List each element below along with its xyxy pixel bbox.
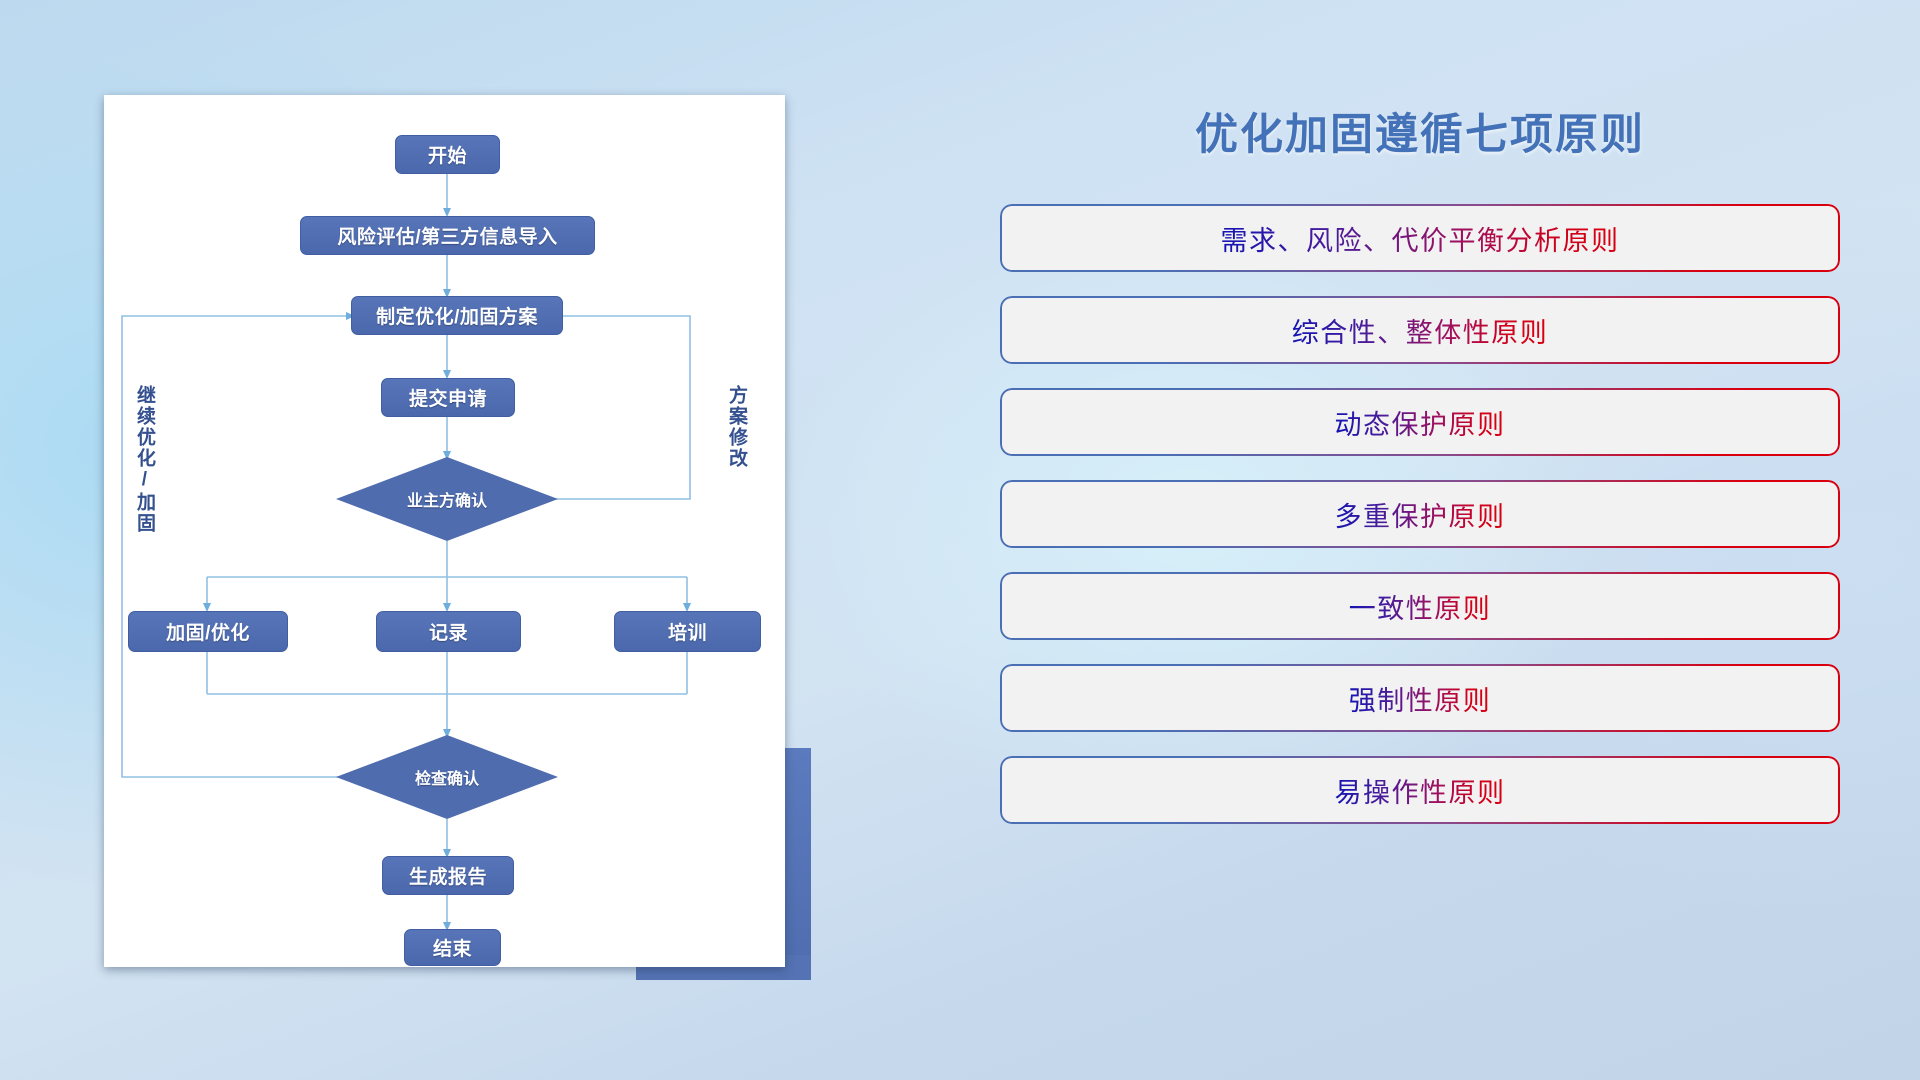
principles-card-list: 需求、风险、代价平衡分析原则 综合性、整体性原则 动态保护原则 多重保护原则 一… <box>1000 204 1840 824</box>
panel-title: 优化加固遵循七项原则 <box>1000 100 1840 162</box>
principle-card[interactable]: 需求、风险、代价平衡分析原则 <box>1000 204 1840 272</box>
flow-node-label: 生成报告 <box>409 862 487 889</box>
principle-card-label: 易操作性原则 <box>1335 771 1506 810</box>
flow-node-label: 业主方确认 <box>407 487 487 511</box>
principle-card[interactable]: 一致性原则 <box>1000 572 1840 640</box>
flow-node-label: 记录 <box>429 618 468 645</box>
flow-node-end[interactable]: 结束 <box>404 929 501 966</box>
flow-node-label: 培训 <box>668 618 707 645</box>
flow-node-label: 加固/优化 <box>166 618 250 645</box>
slide-canvas: 开始 风险评估/第三方信息导入 制定优化/加固方案 提交申请 业主方确认 加固/… <box>0 0 1920 1080</box>
flow-node-plan[interactable]: 制定优化/加固方案 <box>351 296 563 335</box>
edge-label-plan-revision: 方案修改 <box>726 385 746 495</box>
flow-node-start[interactable]: 开始 <box>395 135 500 174</box>
principle-card-label: 强制性原则 <box>1349 679 1492 718</box>
flow-node-generate-report[interactable]: 生成报告 <box>382 856 514 895</box>
flow-node-label: 风险评估/第三方信息导入 <box>337 222 557 249</box>
flow-node-record[interactable]: 记录 <box>376 611 521 652</box>
flow-node-submit-application[interactable]: 提交申请 <box>381 378 515 417</box>
flowchart-inner: 开始 风险评估/第三方信息导入 制定优化/加固方案 提交申请 业主方确认 加固/… <box>104 95 785 967</box>
principle-card-label: 动态保护原则 <box>1335 403 1506 442</box>
principle-card-label: 综合性、整体性原则 <box>1292 311 1549 350</box>
flow-node-reinforce-optimize[interactable]: 加固/优化 <box>128 611 288 652</box>
flow-node-label: 制定优化/加固方案 <box>376 302 538 329</box>
principle-card-label: 多重保护原则 <box>1335 495 1506 534</box>
flow-node-label: 开始 <box>428 141 467 168</box>
principle-card-label: 一致性原则 <box>1349 587 1492 626</box>
principle-card[interactable]: 易操作性原则 <box>1000 756 1840 824</box>
principle-card[interactable]: 动态保护原则 <box>1000 388 1840 456</box>
flowchart-card: 开始 风险评估/第三方信息导入 制定优化/加固方案 提交申请 业主方确认 加固/… <box>104 95 785 967</box>
principle-card[interactable]: 多重保护原则 <box>1000 480 1840 548</box>
principle-card[interactable]: 综合性、整体性原则 <box>1000 296 1840 364</box>
flow-node-label: 检查确认 <box>415 765 479 789</box>
principles-panel: 优化加固遵循七项原则 需求、风险、代价平衡分析原则 综合性、整体性原则 动态保护… <box>1000 100 1840 824</box>
flow-node-training[interactable]: 培训 <box>614 611 761 652</box>
principle-card[interactable]: 强制性原则 <box>1000 664 1840 732</box>
flow-node-label: 结束 <box>433 934 472 961</box>
principle-card-label: 需求、风险、代价平衡分析原则 <box>1221 219 1620 258</box>
flow-node-label: 提交申请 <box>409 384 487 411</box>
edge-label-continue-optimize: 继续优化/加固 <box>134 385 154 555</box>
flow-node-risk-assessment[interactable]: 风险评估/第三方信息导入 <box>300 216 595 255</box>
